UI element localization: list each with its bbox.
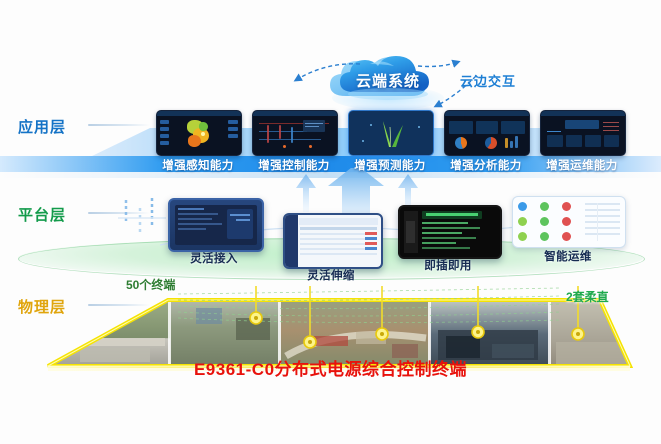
platform-device-intelligent-ops[interactable]: [512, 196, 626, 248]
cloud-edge-connectors: [240, 58, 540, 114]
platform-device-flexible-access[interactable]: [168, 198, 264, 252]
app-card-operations[interactable]: [540, 110, 626, 156]
app-card-control[interactable]: [252, 110, 338, 156]
annotation-flexible-dc: 2套柔直: [566, 288, 609, 305]
app-card-forecast[interactable]: [348, 110, 434, 156]
product-title: E9361-C0分布式电源综合控制终端: [0, 355, 661, 380]
app-card-caption-perception: 增强感知能力: [150, 157, 246, 173]
platform-device-plug-and-play[interactable]: [398, 205, 502, 259]
platform-caption-flexible-access: 灵活接入: [166, 250, 262, 266]
app-card-caption-operations: 增强运维能力: [534, 157, 630, 173]
app-card-caption-control: 增强控制能力: [246, 157, 342, 173]
app-card-analysis[interactable]: [444, 110, 530, 156]
platform-caption-flexible-scaling: 灵活伸缩: [283, 267, 379, 283]
annotation-terminal-count: 50个终端: [126, 276, 175, 293]
app-card-perception[interactable]: [156, 110, 242, 156]
app-card-caption-analysis: 增强分析能力: [438, 157, 534, 173]
platform-caption-plug-and-play: 即插即用: [398, 257, 498, 273]
app-card-caption-forecast: 增强预测能力: [342, 157, 438, 173]
diagram-canvas: 应用层 平台层 物理层: [0, 0, 661, 444]
platform-caption-intelligent-ops: 智能运维: [512, 248, 624, 264]
platform-device-flexible-scaling[interactable]: [283, 213, 383, 269]
